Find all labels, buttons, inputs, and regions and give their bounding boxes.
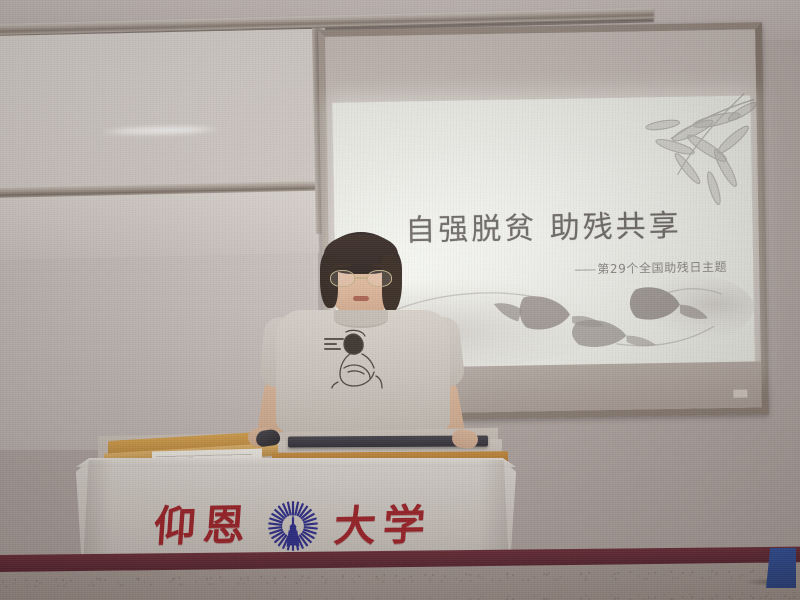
blue-bin	[766, 548, 796, 588]
slide-subtitle-dash: ——	[574, 262, 594, 276]
slide-subtitle-text: 第29个全国助残日主题	[597, 260, 727, 276]
shirt-graphic-print	[324, 328, 390, 390]
podium-top-lip	[76, 458, 516, 467]
shirt-figure-line-art	[324, 328, 390, 390]
glasses-lens-left	[330, 270, 355, 287]
shirt-collar	[334, 310, 388, 328]
yangen-university-sunburst-logo	[266, 499, 320, 553]
podium-brand-right-text: 大学	[332, 504, 433, 548]
frame-label-tag	[733, 390, 747, 398]
mouth	[353, 296, 369, 301]
podium-brand-left-text: 仰恩	[152, 504, 253, 548]
glasses-lens-right	[367, 270, 392, 287]
lecture-hall-photo: 自强脱贫 助残共享 ——第29个全国助残日主题	[0, 0, 800, 600]
glasses-bridge	[355, 277, 367, 279]
glasses-icon	[330, 270, 392, 287]
slide-subtitle: ——第29个全国助残日主题	[574, 258, 727, 278]
podium-branding: 仰恩	[118, 496, 468, 556]
